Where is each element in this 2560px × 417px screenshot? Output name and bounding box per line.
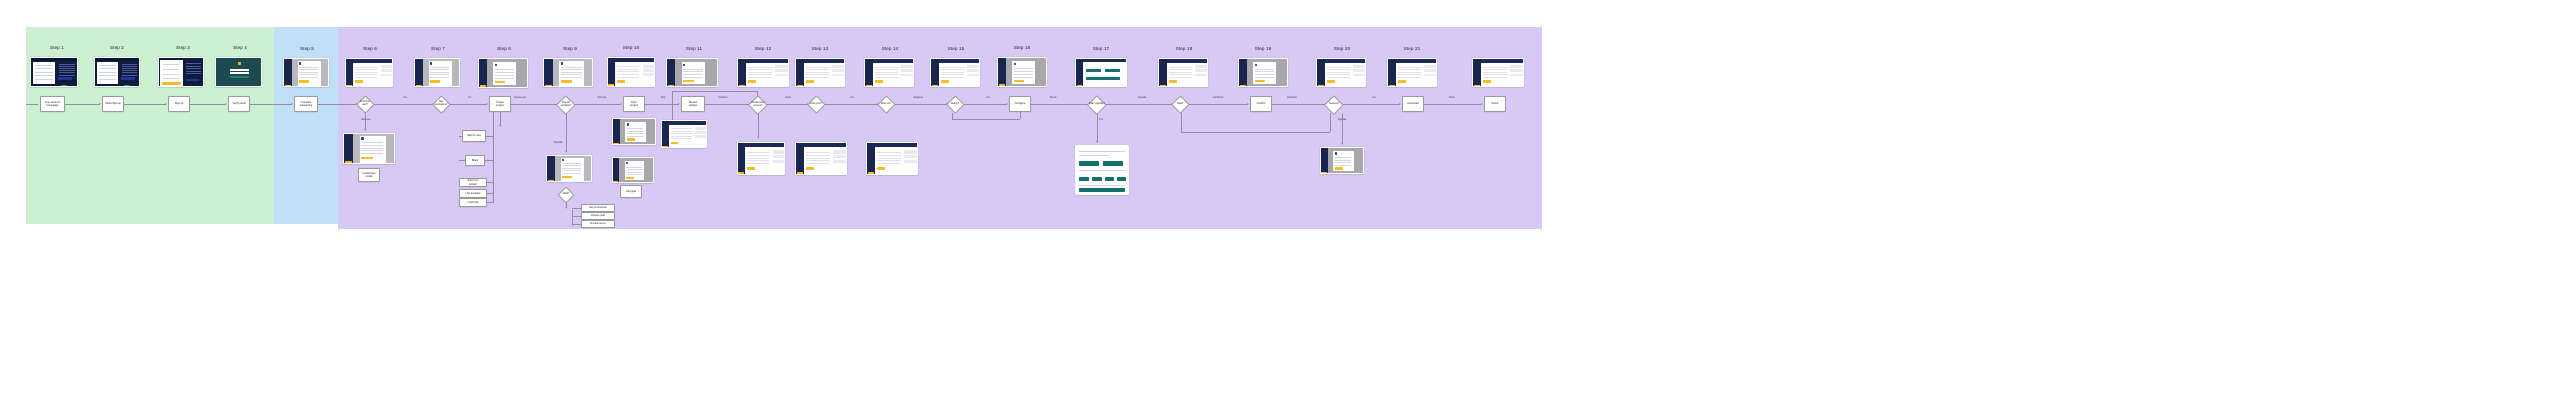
thumb-region — [832, 65, 844, 68]
step-screenshot-16[interactable] — [997, 57, 1047, 87]
step-screenshot-10[interactable] — [607, 57, 655, 87]
thumb-region — [806, 67, 829, 68]
connector-return-loop — [672, 91, 757, 92]
step-screenshot-4[interactable] — [215, 57, 262, 87]
thumb-region — [877, 158, 901, 159]
edge-label-4: Pick one — [598, 97, 607, 99]
step-screenshot-18[interactable] — [1158, 58, 1208, 87]
flow-node-label: Create project — [496, 101, 504, 107]
thumb-region — [1195, 74, 1207, 77]
thumb-region — [901, 69, 913, 72]
thumb-region — [238, 62, 241, 65]
thumb-region — [1424, 65, 1436, 68]
step-screenshot-17[interactable] — [1075, 58, 1127, 87]
thumb-region — [1169, 69, 1192, 70]
thumb-region — [866, 85, 872, 87]
thumb-region — [1483, 67, 1507, 68]
connector-drop-create-project — [500, 112, 501, 126]
thumb-region — [284, 59, 292, 87]
step-screenshot-9[interactable] — [543, 58, 593, 87]
flow-node-label: Import file — [468, 201, 479, 204]
thumb-region — [545, 85, 552, 87]
flow-node-label: Use template — [466, 192, 481, 195]
thumb-region — [345, 161, 352, 164]
thumb-region — [747, 163, 769, 164]
step-label-6: Step 6 — [363, 46, 377, 51]
connector-arrow-down — [1096, 141, 1098, 143]
step-screenshot-13[interactable] — [795, 58, 845, 87]
thumb-region — [299, 72, 318, 73]
thumb-region — [1510, 74, 1522, 77]
flow-node-label: Download — [1407, 102, 1418, 105]
thumb-region — [430, 80, 440, 82]
connector-lower-loop-a — [952, 113, 953, 119]
step-label-17: Step 17 — [1093, 46, 1110, 51]
connector-arrow-down — [565, 151, 567, 153]
step-screenshot-6[interactable] — [345, 58, 393, 87]
thumb-region — [904, 150, 916, 153]
thumb-region — [299, 74, 318, 75]
thumb-region — [544, 59, 553, 87]
thumb-region — [1353, 69, 1365, 72]
thumb-region — [833, 160, 845, 163]
thumb-region — [1255, 71, 1274, 72]
thumb-region — [806, 72, 829, 73]
thumb-region — [1317, 59, 1325, 87]
thumb-region — [361, 137, 364, 139]
flow-node-b8[interactable]: Add goal — [620, 185, 642, 198]
flow-node-n19[interactable]: Confirm — [1250, 96, 1272, 112]
thumb-region — [1327, 80, 1335, 82]
thumb-region — [875, 74, 898, 75]
thumb-region — [662, 121, 669, 148]
thumb-region — [796, 143, 804, 175]
step-screenshot-12[interactable] — [737, 58, 789, 87]
flow-node-label: Complete onboarding — [300, 101, 313, 107]
plan-card-panel[interactable] — [1075, 145, 1129, 195]
thumb-region — [1321, 148, 1328, 174]
connector-drop-plan-upgrade — [1097, 114, 1098, 142]
thumb-region — [35, 75, 53, 76]
flow-node-label: Finish — [1492, 102, 1499, 105]
thumb-region — [748, 80, 756, 82]
edge-label-14: Confirmed — [1213, 97, 1224, 99]
branch-screenshot-branch-shot-i[interactable] — [1320, 147, 1364, 174]
connector-n4-n5 — [250, 104, 292, 105]
step-screenshot-7[interactable] — [414, 58, 460, 87]
thumb-region — [1398, 69, 1421, 70]
edge-label-17: Done — [1449, 97, 1455, 99]
flow-node-b2[interactable]: Skip for now — [462, 130, 486, 142]
thumb-region — [1483, 80, 1491, 82]
flow-node-label: Blank — [472, 159, 478, 162]
thumb-region — [230, 72, 249, 74]
edge-label-1: No — [469, 97, 472, 99]
connector-n14-n15 — [893, 104, 947, 105]
thumb-region — [748, 67, 772, 68]
branch-screenshot-branch-shot-c[interactable] — [612, 118, 656, 145]
thumb-region — [608, 84, 614, 87]
flow-node-b3[interactable]: Blank — [465, 155, 485, 166]
flow-node-b1[interactable]: Guided tour modal — [358, 168, 380, 182]
thumb-region — [361, 153, 383, 154]
thumb-region — [627, 138, 636, 140]
connector-n17-n18 — [1104, 104, 1171, 105]
thumb-region — [99, 65, 116, 66]
thumb-region — [1195, 65, 1207, 68]
thumb-region — [967, 74, 979, 77]
connector-n8-n9 — [511, 104, 557, 105]
connector-n5-n6 — [318, 104, 356, 105]
thumb-region — [1195, 69, 1207, 72]
thumb-region — [1318, 85, 1324, 87]
swimlane-band-account — [274, 27, 338, 224]
thumb-region — [344, 134, 353, 164]
thumb-region — [941, 67, 964, 68]
thumb-region — [797, 172, 803, 175]
connector-lower-loop-b — [1020, 112, 1021, 119]
flow-node-n16[interactable]: Configure — [1009, 96, 1031, 112]
connector-n10-n11 — [645, 104, 679, 105]
connector-n2-n3 — [124, 104, 166, 105]
edge-label-16: Yes — [1372, 97, 1376, 99]
thumb-region — [683, 77, 703, 78]
thumb-region — [1086, 77, 1119, 80]
edge-label-19: Upgrade — [1338, 119, 1347, 121]
flow-node-label: Set permissions — [589, 206, 607, 209]
flow-node-n2[interactable]: Clicks Sign up — [102, 96, 124, 112]
step-label-12: Step 12 — [755, 46, 772, 51]
connector-n11-n12 — [705, 104, 749, 105]
step-label-7: Step 7 — [431, 46, 445, 51]
connector-n6-n7 — [372, 104, 433, 105]
step-screenshot-14[interactable] — [864, 58, 914, 87]
thumb-region — [99, 72, 116, 73]
thumb-region — [617, 71, 639, 72]
thumb-region — [833, 155, 845, 158]
flow-node-label: Skip for now — [467, 134, 481, 137]
card-button[interactable] — [1103, 161, 1123, 166]
thumb-region — [1424, 74, 1436, 77]
step-label-15: Step 15 — [948, 46, 965, 51]
flow-board-canvas[interactable]: YesNoNew userCreate newPick oneSkipTempl… — [0, 0, 2560, 417]
thumb-region — [806, 152, 830, 153]
thumb-region — [626, 177, 634, 179]
thumb-region — [479, 59, 487, 88]
thumb-region — [355, 69, 377, 70]
thumb-region — [904, 155, 916, 158]
thumb-region — [1014, 74, 1033, 75]
thumb-region — [1255, 64, 1257, 67]
branch-screenshot-branch-shot-f[interactable] — [737, 142, 785, 175]
thumb-region — [747, 167, 755, 170]
flow-node-n3[interactable]: Sign up — [168, 96, 190, 112]
thumb-region — [662, 146, 668, 148]
thumb-region — [901, 74, 913, 77]
step-label-13: Step 13 — [812, 46, 829, 51]
flow-node-label: Review terms — [590, 222, 605, 225]
connector-arrow-down — [757, 137, 759, 139]
thumb-region — [1160, 85, 1166, 87]
thumb-region — [561, 80, 572, 82]
flow-node-label: Configure — [1015, 102, 1026, 105]
connector-wide-loop-a — [1181, 113, 1182, 132]
thumb-region — [1473, 59, 1481, 87]
branch-screenshot-branch-shot-d[interactable] — [661, 120, 707, 148]
thumb-region — [346, 85, 352, 87]
thumb-region — [671, 138, 692, 139]
connector-entry — [26, 104, 38, 105]
flow-node-n8[interactable]: Create project — [489, 96, 511, 112]
thumb-region — [1398, 77, 1421, 78]
thumb-region — [1474, 85, 1480, 87]
card-button[interactable] — [1079, 188, 1125, 192]
thumb-region — [1483, 69, 1507, 70]
flow-node-n22[interactable]: Finish — [1484, 96, 1506, 112]
thumb-region — [35, 65, 53, 66]
step-screenshot-3[interactable] — [158, 57, 204, 87]
thumb-region — [667, 59, 675, 87]
flow-node-b11[interactable]: Choose plan — [581, 212, 615, 220]
branch-screenshot-branch-shot-a[interactable] — [343, 133, 395, 164]
flow-node-n11[interactable]: Review settings — [681, 96, 705, 112]
thumb-region — [430, 69, 449, 70]
thumb-region — [1483, 72, 1507, 73]
thumb-region — [671, 136, 692, 137]
thumb-region — [668, 85, 674, 87]
branch-screenshot-branch-shot-h[interactable] — [866, 142, 918, 175]
thumb-region — [643, 65, 655, 68]
thumb-region — [99, 79, 116, 80]
thumb-region — [1255, 77, 1274, 78]
card-button[interactable] — [1092, 177, 1102, 181]
thumb-region — [748, 72, 772, 73]
thumb-region — [1510, 69, 1522, 72]
thumb-region — [35, 68, 53, 69]
thumb-region — [967, 69, 979, 72]
thumb-region — [1014, 80, 1024, 83]
thumb-region — [1077, 85, 1083, 87]
card-button[interactable] — [1105, 177, 1114, 181]
branch-screenshot-branch-shot-b[interactable] — [546, 155, 592, 182]
flow-node-b10[interactable]: Set permissions — [581, 204, 615, 212]
thumb-region — [747, 152, 769, 153]
connector-arrow-down — [499, 125, 501, 127]
thumb-region — [381, 65, 393, 68]
step-label-14: Step 14 — [882, 46, 899, 51]
edge-label-10: Assigned — [913, 97, 922, 99]
branch-screenshot-branch-shot-g[interactable] — [795, 142, 847, 175]
thumb-region — [738, 172, 744, 175]
thumb-region — [1424, 69, 1436, 72]
connector-n9-n10 — [573, 104, 621, 105]
card-divider — [1079, 155, 1109, 156]
connector-valid-opt-1 — [572, 216, 581, 217]
thumb-region — [1327, 77, 1350, 78]
card-divider — [1079, 170, 1125, 171]
flow-node-n21[interactable]: Download — [1402, 96, 1424, 112]
flow-node-n4[interactable]: Verify email — [228, 96, 250, 112]
thumb-region — [299, 77, 318, 78]
thumb-region — [1014, 77, 1033, 78]
step-label-9: Step 9 — [563, 46, 577, 51]
thumb-region — [695, 135, 706, 138]
step-screenshot-20[interactable] — [1316, 58, 1366, 87]
step-screenshot-8[interactable] — [478, 58, 528, 88]
edge-label-7: Continue — [718, 97, 727, 99]
thumb-region — [1255, 74, 1274, 75]
thumb-region — [361, 150, 383, 151]
thumb-region — [561, 69, 582, 70]
step-label-21: Step 21 — [1404, 46, 1421, 51]
flow-node-n1[interactable]: User lands on homepage — [40, 96, 65, 112]
connector-valid-opt-0 — [572, 208, 581, 209]
thumb-region — [230, 76, 249, 78]
connector-n13-n14 — [823, 104, 878, 105]
flow-node-b5[interactable]: Use template — [459, 189, 487, 198]
thumb-region — [613, 143, 618, 145]
flow-node-b6[interactable]: Import file — [459, 198, 487, 207]
thumb-region — [346, 59, 353, 87]
connector-drop-template — [566, 114, 567, 152]
thumb-region — [1388, 59, 1396, 87]
thumb-region — [806, 167, 814, 170]
step-label-18: Step 18 — [1176, 46, 1193, 51]
connector-n3-n4 — [190, 104, 226, 105]
thumb-region — [683, 74, 703, 75]
thumb-region — [832, 74, 844, 77]
thumb-region — [773, 155, 785, 158]
thumb-region — [1398, 67, 1421, 68]
connector-lower-loop — [952, 119, 1020, 120]
connector-drop-first-time-user — [365, 113, 366, 130]
step-screenshot-2[interactable] — [94, 57, 140, 87]
thumb-region — [561, 62, 564, 64]
flow-node-n5[interactable]: Complete onboarding — [294, 96, 318, 112]
thumb-region — [643, 69, 655, 72]
thumb-region — [867, 143, 875, 175]
thumb-region — [99, 75, 116, 76]
thumb-region — [671, 133, 692, 134]
card-button[interactable] — [1117, 177, 1126, 181]
thumb-region — [875, 80, 883, 82]
connector-options-rail — [493, 112, 494, 203]
thumb-region — [361, 142, 383, 143]
edge-label-15: Checkout — [1287, 97, 1297, 99]
thumb-region — [561, 74, 582, 75]
thumb-region — [1076, 59, 1083, 87]
flow-node-label: Confirm — [1257, 102, 1266, 105]
flow-node-label: Start from scratch — [468, 179, 479, 185]
step-screenshot-5[interactable] — [283, 58, 329, 87]
card-button[interactable] — [1079, 161, 1099, 166]
step-label-10: Step 10 — [623, 45, 640, 50]
thumb-region — [548, 180, 554, 182]
branch-screenshot-branch-shot-j[interactable] — [1472, 58, 1524, 87]
step-screenshot-11[interactable] — [666, 58, 718, 87]
thumb-region — [1105, 69, 1120, 72]
step-label-20: Step 20 — [1334, 46, 1351, 51]
flow-node-b12[interactable]: Review terms — [581, 220, 615, 228]
card-divider — [1079, 151, 1125, 152]
connector-n19-n20 — [1272, 104, 1325, 105]
thumb-region — [806, 77, 829, 78]
thumb-region — [683, 69, 703, 70]
thumb-region — [1398, 72, 1421, 73]
thumb-region — [430, 72, 449, 73]
thumb-region — [877, 155, 901, 156]
thumb-region — [671, 128, 692, 129]
thumb-region — [31, 58, 78, 61]
connector-arrow-down — [565, 207, 567, 209]
step-screenshot-15[interactable] — [930, 58, 980, 87]
flow-node-b4[interactable]: Start from scratch — [459, 178, 487, 187]
step-screenshot-21[interactable] — [1387, 58, 1437, 87]
thumb-region — [95, 58, 140, 61]
thumb-region — [1353, 74, 1365, 77]
thumb-region — [163, 74, 180, 75]
thumb-region — [163, 78, 180, 79]
thumb-region — [671, 142, 678, 144]
thumb-region — [495, 69, 514, 70]
thumb-region — [430, 67, 449, 68]
flow-node-label: User lands on homepage — [45, 101, 60, 107]
step-screenshot-19[interactable] — [1238, 58, 1288, 87]
thumb-region — [1483, 77, 1507, 78]
thumb-region — [1327, 74, 1350, 75]
thumb-region — [33, 62, 55, 84]
thumb-region — [186, 79, 200, 81]
thumb-region — [875, 72, 898, 73]
thumb-region — [806, 158, 830, 159]
thumb-region — [613, 181, 618, 183]
thumb-region — [97, 62, 118, 84]
thumb-region — [617, 77, 639, 78]
flow-node-n10[interactable]: Open project — [623, 96, 645, 112]
thumb-region — [998, 58, 1006, 87]
thumb-region — [941, 69, 964, 70]
card-button[interactable] — [1079, 177, 1089, 181]
thumb-region — [99, 68, 116, 69]
thumb-region — [230, 69, 249, 71]
thumb-region — [561, 77, 582, 78]
thumb-region — [163, 64, 180, 65]
thumb-region — [877, 163, 901, 164]
thumb-region — [747, 160, 769, 161]
thumb-region — [547, 156, 555, 182]
connector-n20-n21 — [1341, 104, 1400, 105]
edge-label-9: Yes — [850, 97, 854, 99]
connector-n1-n2 — [65, 104, 100, 105]
thumb-region — [617, 74, 639, 75]
connector-n16-n17 — [1031, 104, 1088, 105]
step-label-4: Step 4 — [233, 45, 247, 50]
branch-screenshot-branch-shot-e[interactable] — [612, 157, 654, 183]
thumb-region — [381, 69, 393, 72]
thumb-region — [773, 150, 785, 153]
thumb-region — [495, 81, 505, 84]
thumb-region — [480, 85, 486, 88]
thumb-region — [797, 85, 803, 87]
thumb-region — [832, 69, 844, 72]
edge-label-2: New user — [361, 119, 371, 121]
step-screenshot-1[interactable] — [30, 57, 78, 87]
connector-n21-n22 — [1424, 104, 1482, 105]
thumb-region — [1353, 65, 1365, 68]
thumb-region — [877, 167, 885, 170]
thumb-region — [285, 85, 291, 87]
connector-n7-n8 — [448, 104, 487, 105]
